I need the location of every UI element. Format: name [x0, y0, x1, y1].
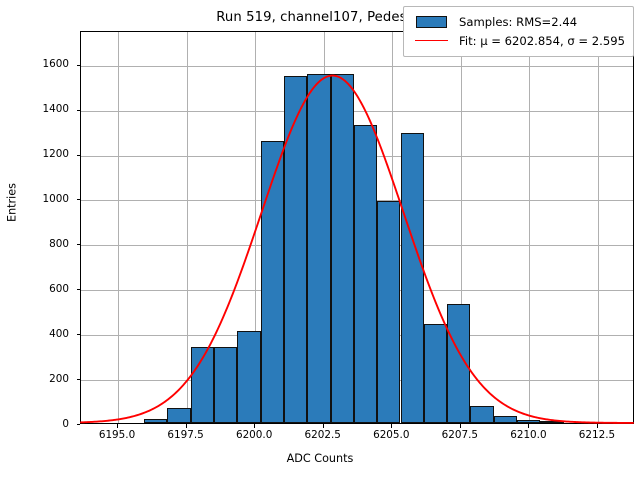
figure-canvas: Run 519, channel107, Pedestal 6195.06197…: [0, 0, 640, 480]
y-tick-mark: [77, 110, 81, 111]
x-tick-mark: [323, 424, 324, 428]
legend-label-samples: Samples: RMS=2.44: [459, 15, 577, 29]
y-tick-label: 800: [21, 238, 69, 250]
x-tick-mark: [528, 424, 529, 428]
y-tick-label: 1000: [21, 193, 69, 205]
x-tick-label: 6210.0: [496, 429, 560, 441]
plot-area: [80, 31, 634, 424]
x-tick-label: 6195.0: [85, 429, 149, 441]
x-tick-label: 6212.5: [565, 429, 629, 441]
legend: Samples: RMS=2.44 Fit: μ = 6202.854, σ =…: [403, 6, 634, 57]
x-tick-label: 6205.0: [359, 429, 423, 441]
y-tick-mark: [77, 379, 81, 380]
y-tick-mark: [77, 334, 81, 335]
y-tick-mark: [77, 289, 81, 290]
y-tick-mark: [77, 199, 81, 200]
y-tick-mark: [77, 65, 81, 66]
legend-line-fit-icon: [412, 40, 450, 41]
x-tick-mark: [254, 424, 255, 428]
x-tick-label: 6200.0: [222, 429, 286, 441]
x-tick-mark: [186, 424, 187, 428]
legend-item-samples: Samples: RMS=2.44: [412, 12, 625, 31]
legend-swatch-samples-icon: [412, 16, 450, 28]
legend-item-fit: Fit: μ = 6202.854, σ = 2.595: [412, 31, 625, 50]
gaussian-fit-curve: [81, 32, 633, 423]
x-tick-mark: [597, 424, 598, 428]
y-tick-label: 400: [21, 328, 69, 340]
y-tick-mark: [77, 244, 81, 245]
x-tick-label: 6207.5: [428, 429, 492, 441]
legend-label-fit: Fit: μ = 6202.854, σ = 2.595: [459, 34, 625, 48]
y-tick-label: 1400: [21, 103, 69, 115]
y-tick-mark: [77, 424, 81, 425]
fit-path: [81, 76, 633, 423]
y-tick-label: 1200: [21, 148, 69, 160]
x-tick-mark: [460, 424, 461, 428]
x-axis-label: ADC Counts: [0, 452, 640, 465]
y-tick-label: 0: [21, 418, 69, 430]
x-tick-mark: [117, 424, 118, 428]
x-tick-label: 6197.5: [154, 429, 218, 441]
y-tick-label: 200: [21, 373, 69, 385]
y-axis-label: Entries: [6, 113, 19, 293]
y-tick-mark: [77, 155, 81, 156]
x-tick-label: 6202.5: [291, 429, 355, 441]
y-tick-label: 1600: [21, 58, 69, 70]
x-tick-mark: [391, 424, 392, 428]
y-tick-label: 600: [21, 283, 69, 295]
